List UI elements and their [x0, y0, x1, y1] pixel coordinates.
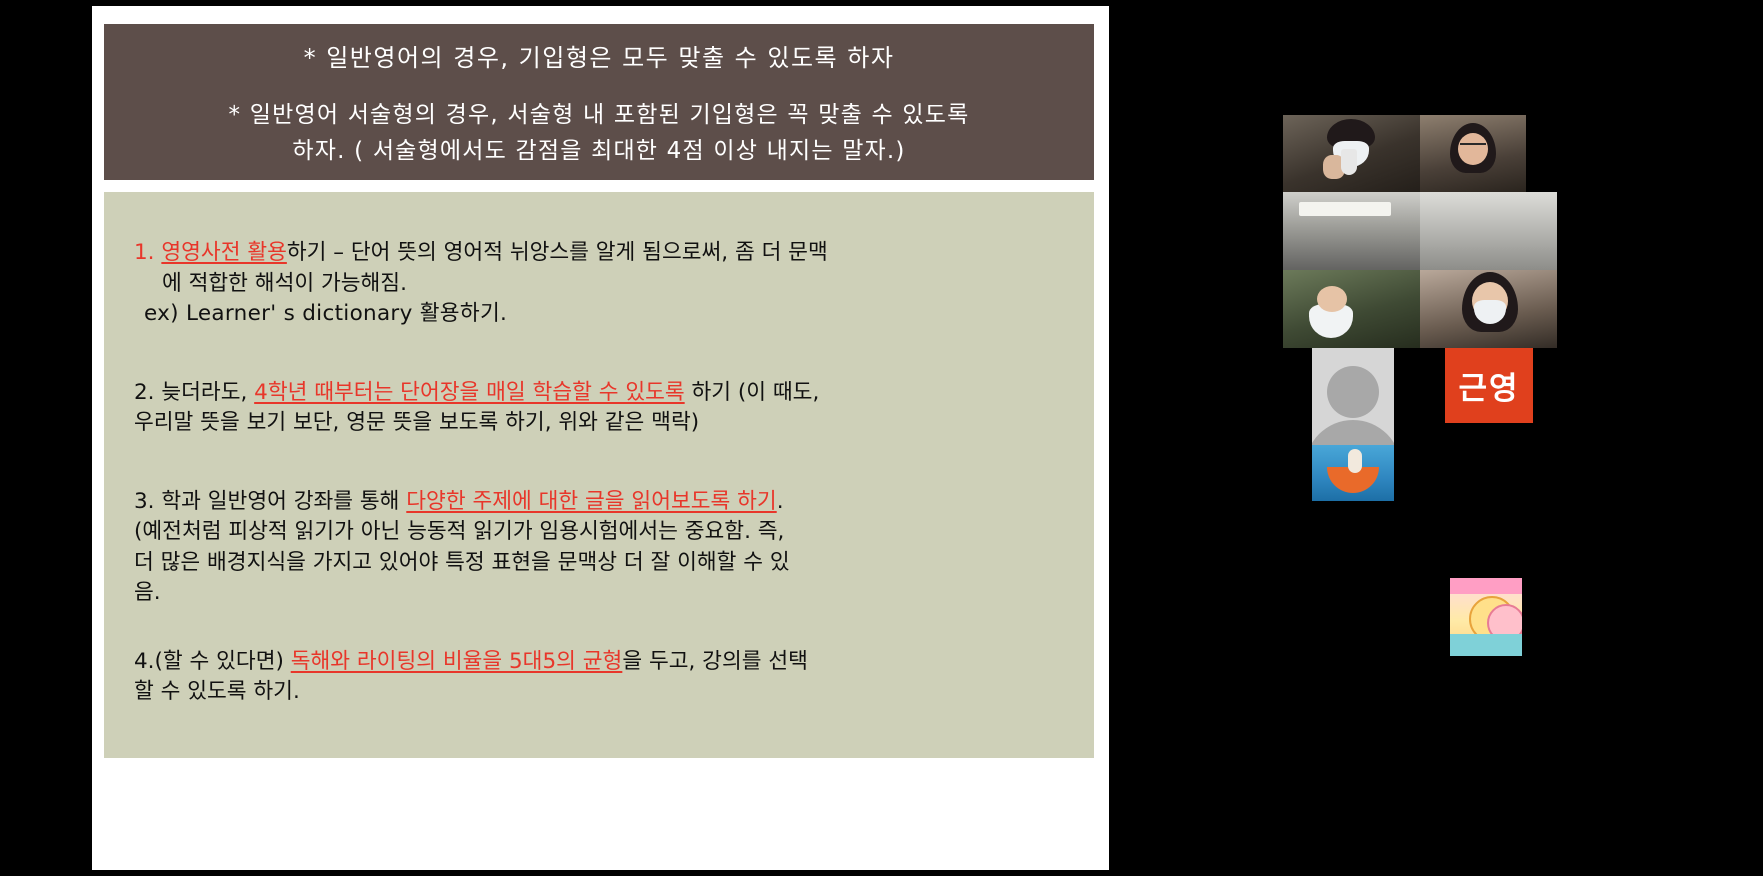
participant-tile-9-illustration[interactable] [1450, 578, 1522, 656]
slide-item-3: 3. 학과 일반영어 강좌를 통해 다양한 주제에 대한 글을 읽어보도록 하기… [134, 487, 1066, 609]
body-spacer-1 [134, 334, 1066, 378]
slide-item-3-tail: . [777, 489, 784, 514]
slide-item-4-line-2: 할 수 있도록 하기. [134, 677, 1066, 708]
slide-item-3-line-2: (예전처럼 피상적 읽기가 아닌 능동적 읽기가 임용시험에서는 중요함. 즉, [134, 517, 1066, 548]
slide-item-2-highlight: 4학년 때부터는 단어장을 매일 학습할 수 있도록 [254, 380, 685, 405]
slide-item-4-lead: (할 수 있다면) [155, 649, 291, 674]
slide-item-1: 1. 영영사전 활용하기 – 단어 뜻의 영어적 뉘앙스를 알게 됨으로써, 좀… [134, 238, 1066, 330]
participant-tile-5[interactable] [1283, 270, 1420, 348]
slide-item-2-lead: 늦더라도, [161, 380, 254, 405]
slide-item-2-line-1: 2. 늦더라도, 4학년 때부터는 단어장을 매일 학습할 수 있도록 하기 (… [134, 378, 1066, 409]
slide-body-panel: 1. 영영사전 활용하기 – 단어 뜻의 영어적 뉘앙스를 알게 됨으로써, 좀… [104, 192, 1094, 758]
shared-screen-stage: * 일반영어의 경우, 기입형은 모두 맞출 수 있도록 하자 * 일반영어 서… [0, 0, 1245, 876]
slide-item-3-line-4: 음. [134, 578, 1066, 609]
face-shape [1458, 133, 1488, 165]
slide-item-4-line-1: 4.(할 수 있다면) 독해와 라이팅의 비율을 5대5의 균형을 두고, 강의… [134, 647, 1066, 678]
slide-item-1-example: ex) Learner' s dictionary 활용하기. [134, 299, 1066, 330]
participant-tile-8-name[interactable]: 근영 [1445, 348, 1533, 423]
avatar-photo-strip [1312, 445, 1394, 501]
participant-tile-3[interactable] [1283, 192, 1420, 270]
participant-tile-1[interactable] [1283, 115, 1420, 192]
slide-item-4-number: 4. [134, 649, 155, 674]
slide-item-4: 4.(할 수 있다면) 독해와 라이팅의 비율을 5대5의 균형을 두고, 강의… [134, 647, 1066, 708]
slide-item-1-number: 1. [134, 240, 155, 265]
slide-item-3-number: 3. [134, 489, 155, 514]
participant-name-label: 근영 [1458, 363, 1519, 408]
slide-item-4-tail: 을 두고, 강의를 선택 [622, 649, 808, 674]
slide-item-2-line-2: 우리말 뜻을 보기 보단, 영문 뜻을 보도록 하기, 위와 같은 맥락) [134, 408, 1066, 439]
slide-item-2-number: 2. [134, 380, 155, 405]
slide-item-1-line-1: 1. 영영사전 활용하기 – 단어 뜻의 영어적 뉘앙스를 알게 됨으로써, 좀… [134, 238, 1066, 269]
illustration-base-band [1450, 634, 1522, 656]
slide-header-line-2: * 일반영어 서술형의 경우, 서술형 내 포함된 기입형은 꼭 맞출 수 있도… [118, 98, 1080, 134]
face-shape [1317, 286, 1347, 312]
slide-item-2: 2. 늦더라도, 4학년 때부터는 단어장을 매일 학습할 수 있도록 하기 (… [134, 378, 1066, 439]
slide-item-1-highlight: 영영사전 활용 [161, 240, 287, 265]
cup-shape [1341, 149, 1357, 175]
slide-header-line-1: * 일반영어의 경우, 기입형은 모두 맞출 수 있도록 하자 [118, 40, 1080, 76]
slide-item-4-highlight: 독해와 라이팅의 비율을 5대5의 균형 [291, 649, 623, 674]
participant-tile-2[interactable] [1420, 115, 1526, 192]
slide-item-3-line-3: 더 많은 배경지식을 가지고 있어야 특정 표현을 문맥상 더 잘 이해할 수 … [134, 548, 1066, 579]
participant-video-rail: 근영 [1245, 0, 1763, 876]
body-spacer-2 [134, 443, 1066, 487]
slide-item-3-lead: 학과 일반영어 강좌를 통해 [161, 489, 406, 514]
ceiling-light-shape [1299, 202, 1391, 216]
slide-header-banner: * 일반영어의 경우, 기입형은 모두 맞출 수 있도록 하자 * 일반영어 서… [104, 24, 1094, 180]
slide-item-2-tail: 하기 (이 때도, [685, 380, 820, 405]
body-spacer-3 [134, 613, 1066, 647]
participant-tile-4[interactable] [1420, 192, 1557, 270]
slide-item-3-line-1: 3. 학과 일반영어 강좌를 통해 다양한 주제에 대한 글을 읽어보도록 하기… [134, 487, 1066, 518]
participant-tile-6[interactable] [1420, 270, 1557, 348]
slide-header-line-3: 하자. ( 서술형에서도 감점을 최대한 4점 이상 내지는 말자.) [118, 134, 1080, 170]
screen-share-window: * 일반영어의 경우, 기입형은 모두 맞출 수 있도록 하자 * 일반영어 서… [0, 0, 1763, 876]
participant-tile-7-avatar[interactable] [1312, 348, 1394, 501]
header-spacer [118, 76, 1080, 98]
glasses-shape [1460, 143, 1486, 149]
slide-item-1-line-2: 에 적합한 해석이 가능해짐. [134, 269, 1066, 300]
illustration-top-band [1450, 578, 1522, 594]
figure-shape [1348, 449, 1362, 473]
presentation-slide: * 일반영어의 경우, 기입형은 모두 맞출 수 있도록 하자 * 일반영어 서… [92, 6, 1109, 870]
slide-item-1-rest: 하기 – 단어 뜻의 영어적 뉘앙스를 알게 됨으로써, 좀 더 문맥 [287, 240, 828, 265]
slide-item-3-highlight: 다양한 주제에 대한 글을 읽어보도록 하기 [406, 489, 776, 514]
avatar-head-icon [1327, 366, 1379, 418]
